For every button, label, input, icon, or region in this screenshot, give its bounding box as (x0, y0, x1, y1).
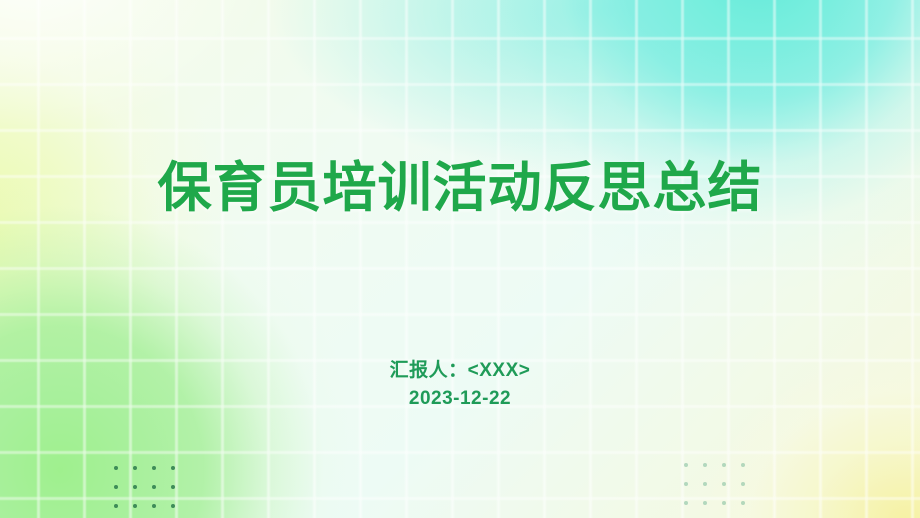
dot (715, 456, 734, 475)
dot-pattern-right (677, 456, 753, 518)
dot (126, 459, 145, 478)
slide-subtitle-block: 汇报人：<XXX> 2023-12-22 (0, 357, 920, 413)
presentation-title-slide: 保育员培训活动反思总结 汇报人：<XXX> 2023-12-22 (0, 0, 920, 518)
background-blob-green (0, 0, 920, 518)
dot (715, 494, 734, 513)
slide-title: 保育员培训活动反思总结 (0, 155, 920, 221)
dot (107, 497, 126, 516)
dot (734, 456, 753, 475)
dot (677, 494, 696, 513)
dot (715, 513, 734, 518)
background-blob-cyan (0, 0, 920, 518)
dot (164, 459, 183, 478)
background-blob-highlight (0, 0, 920, 518)
dot (145, 459, 164, 478)
background-blob-yellow (0, 0, 920, 518)
dot (164, 497, 183, 516)
dot (107, 478, 126, 497)
presenter-label: 汇报人：<XXX> (0, 357, 920, 385)
dot (715, 475, 734, 494)
dot (164, 478, 183, 497)
dot (126, 497, 145, 516)
dot (696, 456, 715, 475)
dot (696, 475, 715, 494)
dot (126, 478, 145, 497)
dot (734, 513, 753, 518)
dot (734, 494, 753, 513)
dot (677, 513, 696, 518)
dot-pattern-left (107, 459, 183, 518)
dot (107, 459, 126, 478)
background-grid-overlay (0, 0, 920, 518)
background-base-gradient (0, 0, 920, 518)
presentation-date: 2023-12-22 (0, 385, 920, 413)
dot (677, 456, 696, 475)
dot (677, 475, 696, 494)
dot (696, 513, 715, 518)
dot (734, 475, 753, 494)
dot (696, 494, 715, 513)
dot (145, 478, 164, 497)
background-blob-lime (0, 0, 920, 518)
background-blob-cyan-wide (0, 0, 920, 518)
dot (145, 497, 164, 516)
